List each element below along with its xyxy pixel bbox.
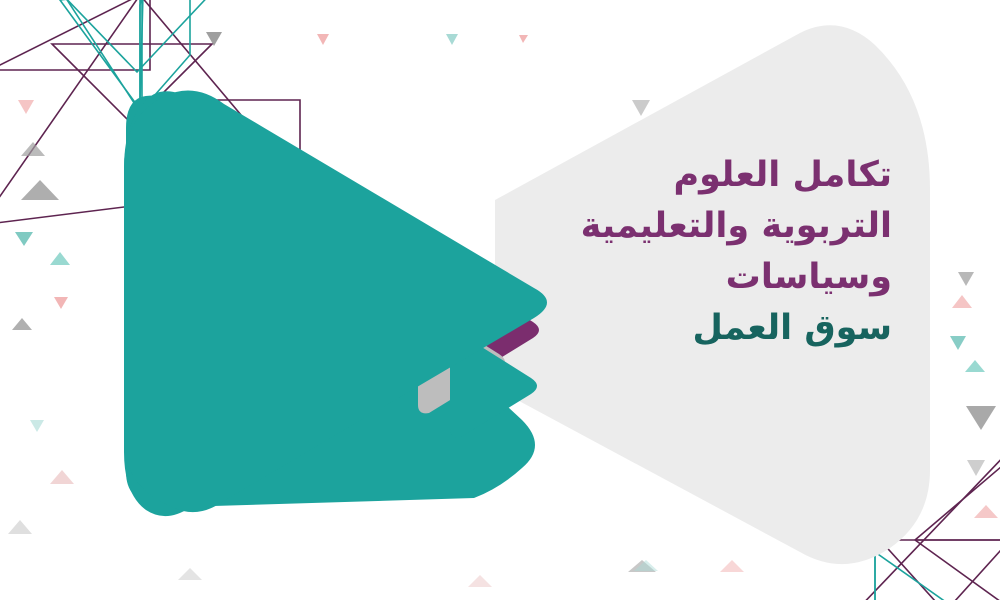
teal-arrow-shape-main	[0, 0, 1000, 600]
cover-slide: تكامل العلوم التربوية والتعليمية وسياسات…	[0, 0, 1000, 600]
